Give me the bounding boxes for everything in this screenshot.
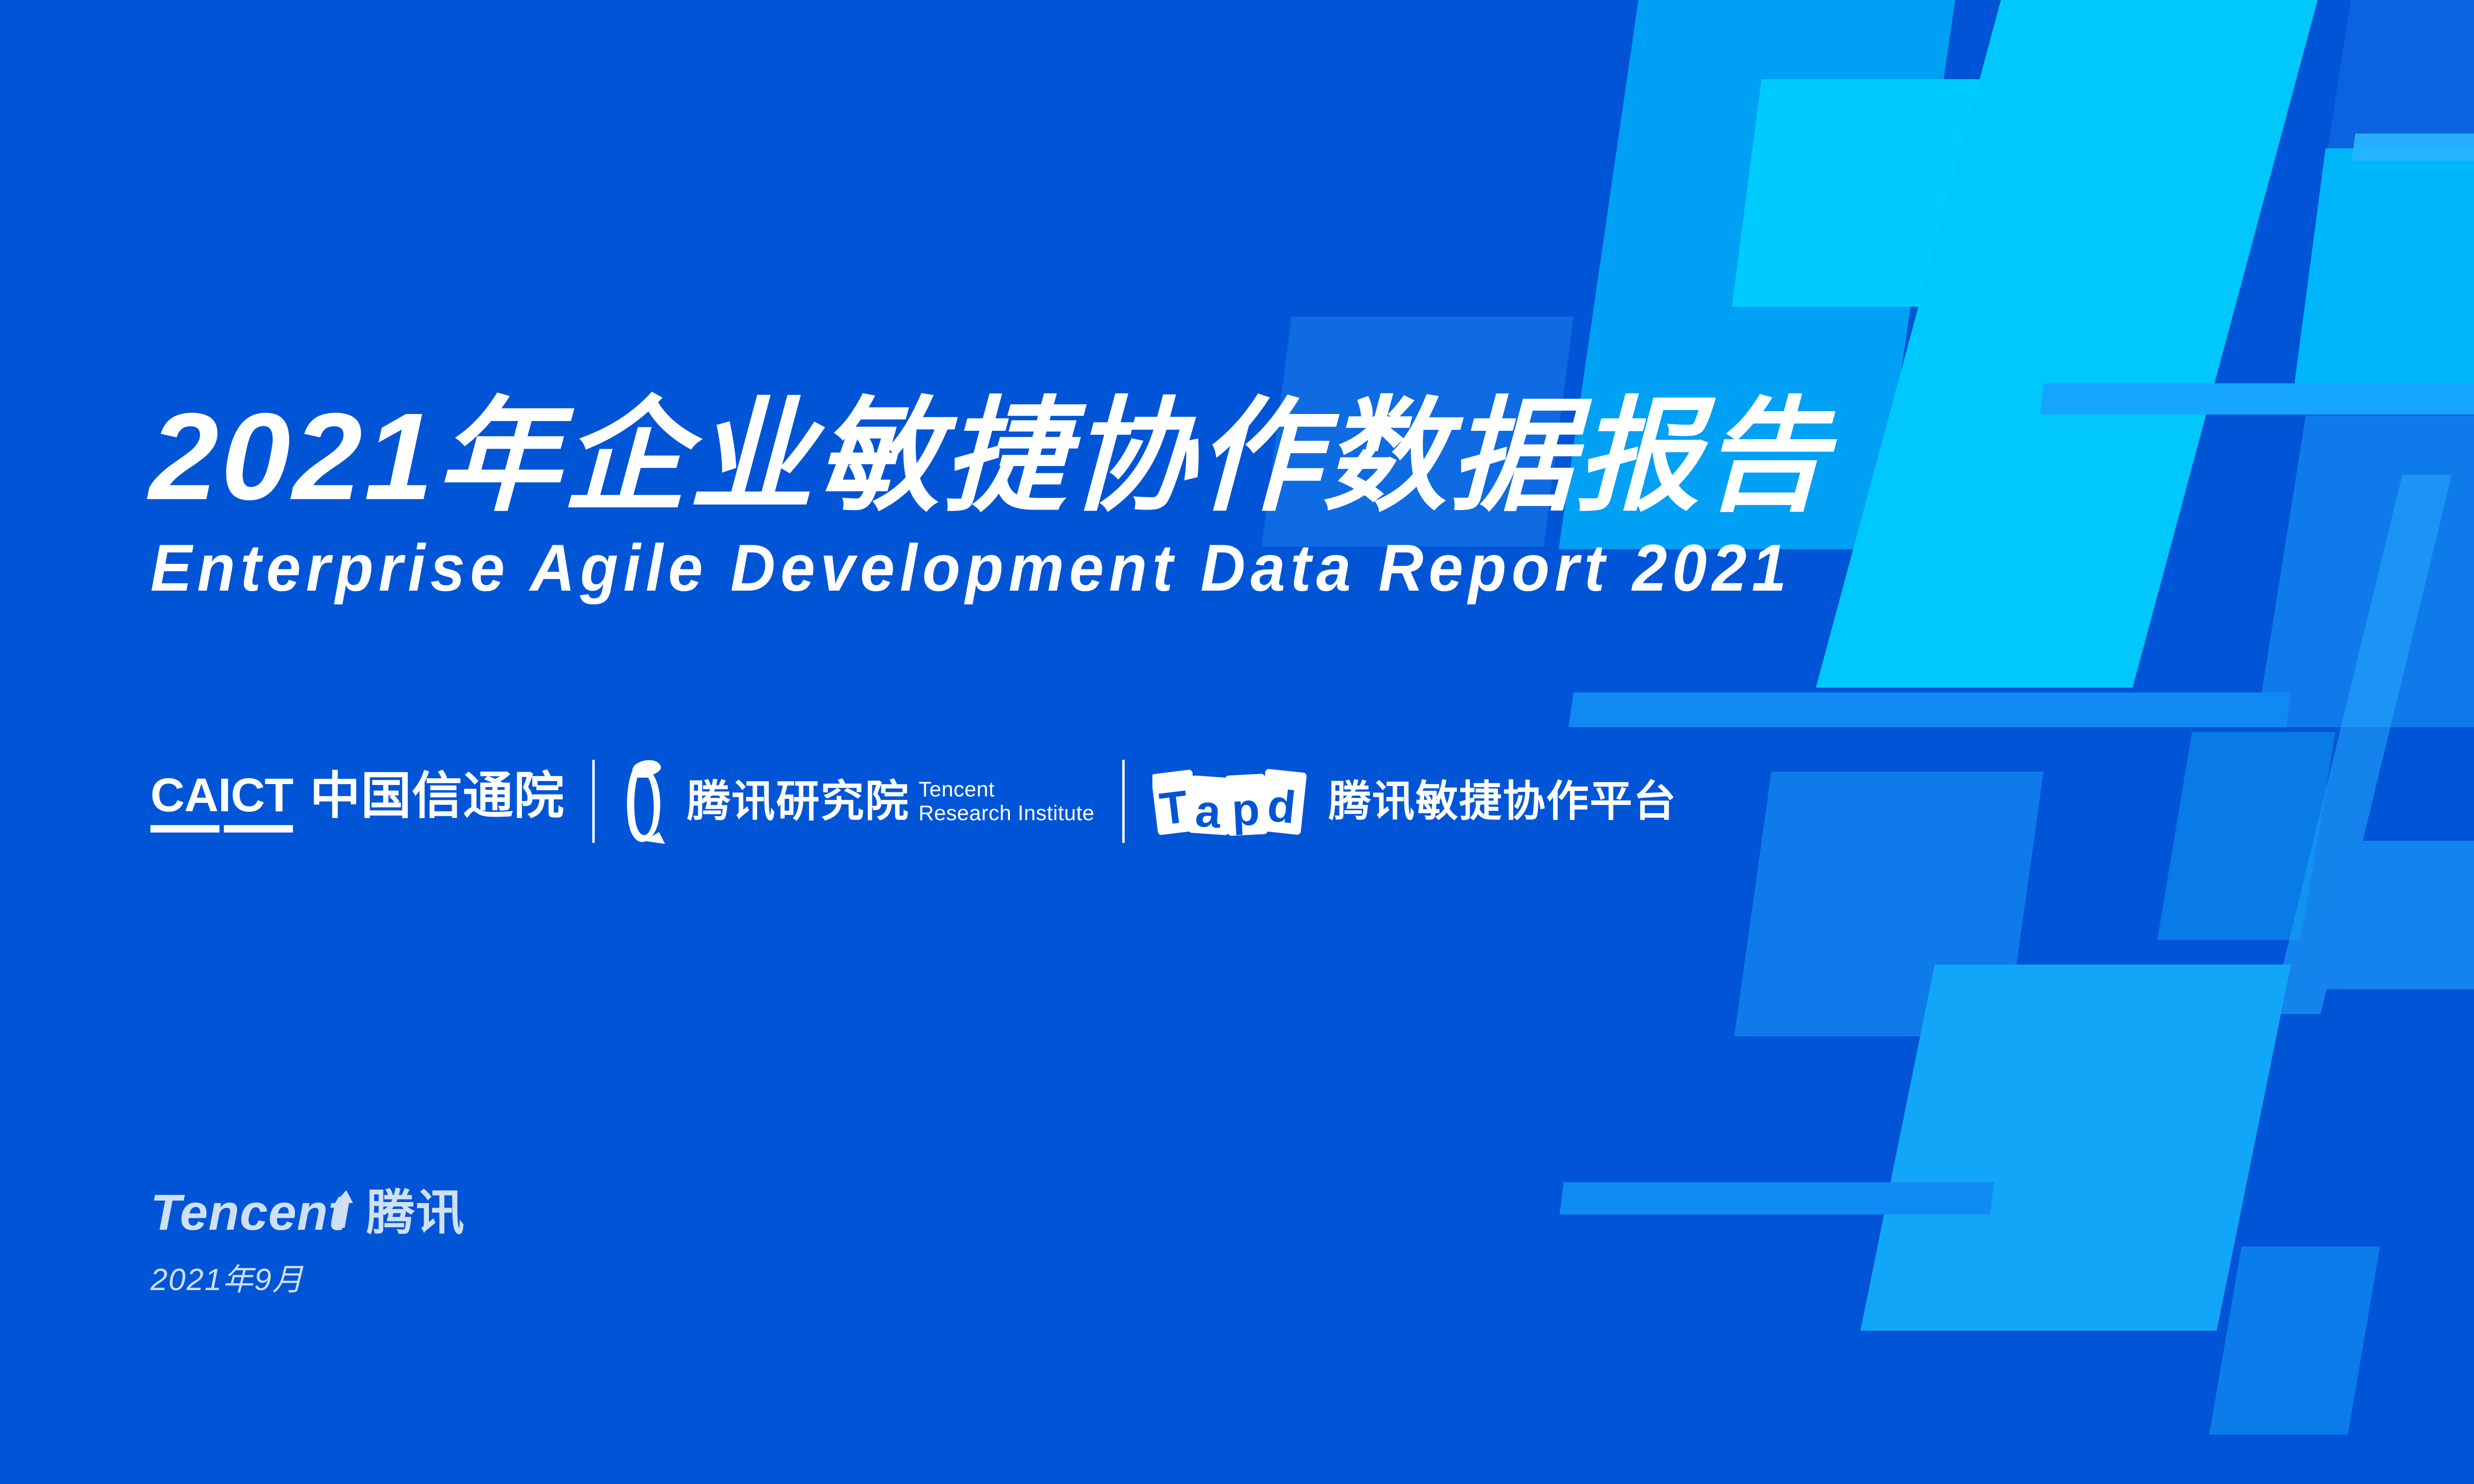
logo-divider xyxy=(1122,760,1125,843)
tencent-arrow-icon xyxy=(335,1190,355,1228)
deco-parallelogram xyxy=(2256,416,2474,727)
deco-parallelogram xyxy=(2209,1247,2380,1435)
tapd-cn-label: 腾讯敏捷协作平台 xyxy=(1329,780,1677,823)
slide-content: 2021年企业敏捷协作数据报告 Enterprise Agile Develop… xyxy=(148,0,2128,1484)
caict-cn-label: 中国信通院 xyxy=(310,771,565,833)
logo-tencent-research-institute: 腾讯研究院 Tencent Research Institute xyxy=(622,742,1094,861)
logo-tapd: T a p d 腾讯敏捷协作平台 xyxy=(1152,742,1677,861)
svg-text:a: a xyxy=(1193,786,1223,837)
logo-divider xyxy=(592,760,595,843)
title-slide: 2021年企业敏捷协作数据报告 Enterprise Agile Develop… xyxy=(0,0,2474,1484)
svg-text:p: p xyxy=(1231,784,1261,836)
report-date: 2021年9月 xyxy=(150,1254,465,1299)
deco-parallelogram xyxy=(2306,841,2474,989)
caict-underline xyxy=(150,825,293,833)
title-block: 2021年企业敏捷协作数据报告 Enterprise Agile Develop… xyxy=(148,393,1896,606)
partner-logo-row: CAICT 中国信通院 腾讯研究院 Te xyxy=(150,742,1677,861)
page-subtitle: Enterprise Agile Development Data Report… xyxy=(150,530,1792,606)
svg-text:d: d xyxy=(1265,780,1298,833)
tencent-brand: Tencent 腾讯 xyxy=(150,1187,465,1238)
footer-block: Tencent 腾讯 2021年9月 xyxy=(150,1187,465,1299)
tri-cn-label: 腾讯研究院 xyxy=(687,780,909,823)
deco-parallelogram xyxy=(2157,732,2335,940)
deco-bar-horizontal xyxy=(2352,134,2474,161)
tencent-en-label: Tencent xyxy=(150,1187,345,1238)
tri-en-line2: Research Institute xyxy=(918,801,1094,825)
tapd-icon: T a p d xyxy=(1152,764,1307,839)
tri-en-line1: Tencent xyxy=(918,778,1094,801)
deco-parallelogram xyxy=(2316,0,2474,228)
logo-caict: CAICT 中国信通院 xyxy=(150,742,565,861)
deco-parallelogram xyxy=(2291,148,2474,411)
page-title: 2021年企业敏捷协作数据报告 xyxy=(148,393,1899,519)
caict-en-label: CAICT xyxy=(150,772,293,819)
penguin-icon xyxy=(622,758,670,845)
deco-bar-vertical xyxy=(2271,475,2452,1014)
tencent-cn-label: 腾讯 xyxy=(366,1188,465,1237)
